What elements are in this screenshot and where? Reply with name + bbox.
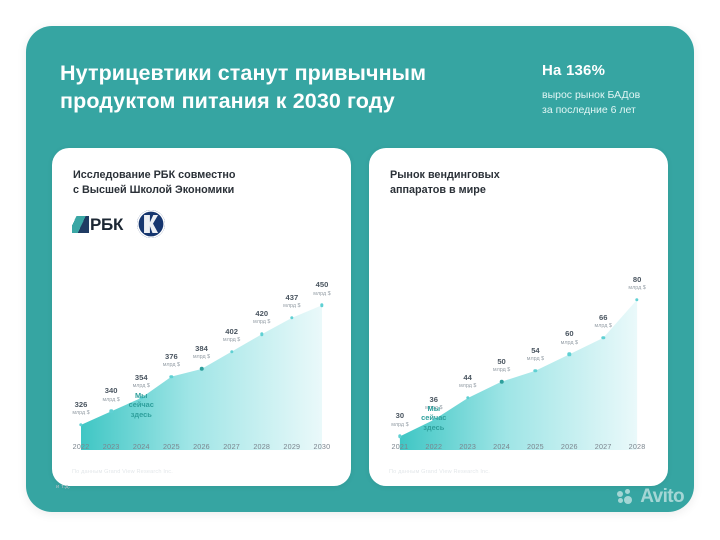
current-annotation-line-1: Мы: [421, 404, 446, 413]
card-title-line-2: с Высшей Школой Экономики: [73, 183, 335, 198]
x-axis-tick: 2027: [217, 442, 247, 456]
stat-description: вырос рынок БАДов за последние 6 лет: [542, 88, 682, 118]
chart-point-current: [199, 367, 204, 372]
chart-rbk-source: По данным Grand View Research Inc.: [72, 469, 337, 475]
x-axis-tick: 2026: [552, 442, 586, 456]
x-axis-tick: 2027: [586, 442, 620, 456]
avito-wordmark: Avito: [640, 487, 684, 506]
card-title: Исследование РБК совместно с Высшей Школ…: [73, 168, 335, 199]
current-position-annotation: Мы сейчас здесь: [129, 391, 154, 419]
avito-dots-icon: [617, 489, 636, 504]
stat-value: На 136%: [542, 62, 682, 81]
chart-vending-source: По данным Grand View Research Inc.: [389, 469, 654, 475]
slide-header: Нутрицевтики станут привычным продуктом …: [26, 26, 694, 138]
x-axis-tick: 2023: [451, 442, 485, 456]
x-axis-tick: 2028: [620, 442, 654, 456]
current-annotation-line-2: сейчас: [421, 413, 446, 422]
hse-logo-icon: [137, 210, 165, 238]
chart-vending: 30млрд $36млрд $44млрд $50млрд $54млрд $…: [369, 240, 668, 486]
card-title-line-1: Рынок вендинговых: [390, 168, 652, 183]
x-axis-tick: 2022: [66, 442, 96, 456]
x-axis-tick: 2024: [126, 442, 156, 456]
slide-panel: Нутрицевтики станут привычным продуктом …: [26, 26, 694, 512]
page-title-line-2: продуктом питания к 2030 году: [60, 88, 480, 116]
stat-description-line-2: за последние 6 лет: [542, 103, 682, 118]
chart-vending-x-axis: 20212022202320242025202620272028: [369, 442, 668, 456]
current-annotation-line-3: здесь: [129, 410, 154, 419]
card-title-line-1: Исследование РБК совместно: [73, 168, 335, 183]
current-annotation-line-3: здесь: [421, 423, 446, 432]
page-title: Нутрицевтики станут привычным продуктом …: [60, 60, 480, 115]
x-axis-tick: 2025: [519, 442, 553, 456]
card-vending-market[interactable]: Рынок вендинговых аппаратов в мире 30м: [369, 148, 668, 486]
chart-rbk: 326млрд $340млрд $354млрд $376млрд $384м…: [52, 240, 351, 486]
x-axis-tick: 2023: [96, 442, 126, 456]
card-title-line-2: аппаратов в мире: [390, 183, 652, 198]
page-title-line-1: Нутрицевтики станут привычным: [60, 61, 426, 85]
current-annotation-line-1: Мы: [129, 391, 154, 400]
x-axis-tick: 2025: [156, 442, 186, 456]
x-axis-tick: 2028: [247, 442, 277, 456]
card-title: Рынок вендинговых аппаратов в мире: [390, 168, 652, 199]
x-axis-tick: 2024: [485, 442, 519, 456]
cards-container: Исследование РБК совместно с Высшей Школ…: [52, 148, 668, 486]
chart-point-current: [499, 379, 504, 384]
rbk-logo: РБК: [72, 216, 123, 233]
current-annotation-line-2: сейчас: [129, 400, 154, 409]
logo-row: РБК: [72, 210, 165, 238]
x-axis-tick: 2029: [277, 442, 307, 456]
rbk-wordmark: РБК: [90, 216, 123, 233]
x-axis-tick: 2026: [186, 442, 216, 456]
stat-description-line-1: вырос рынок БАДов: [542, 88, 682, 103]
current-position-annotation: Мы сейчас здесь: [421, 404, 446, 432]
x-axis-tick: 2021: [383, 442, 417, 456]
x-axis-tick: 2022: [417, 442, 451, 456]
rbk-mark-icon: [72, 216, 89, 233]
corner-note: и т.д.: [56, 484, 71, 490]
card-rbk-research[interactable]: Исследование РБК совместно с Высшей Школ…: [52, 148, 351, 486]
stat-block: На 136% вырос рынок БАДов за последние 6…: [542, 62, 682, 118]
avito-watermark: Avito: [617, 487, 684, 506]
chart-rbk-x-axis: 202220232024202520262027202820292030: [52, 442, 351, 456]
x-axis-tick: 2030: [307, 442, 337, 456]
